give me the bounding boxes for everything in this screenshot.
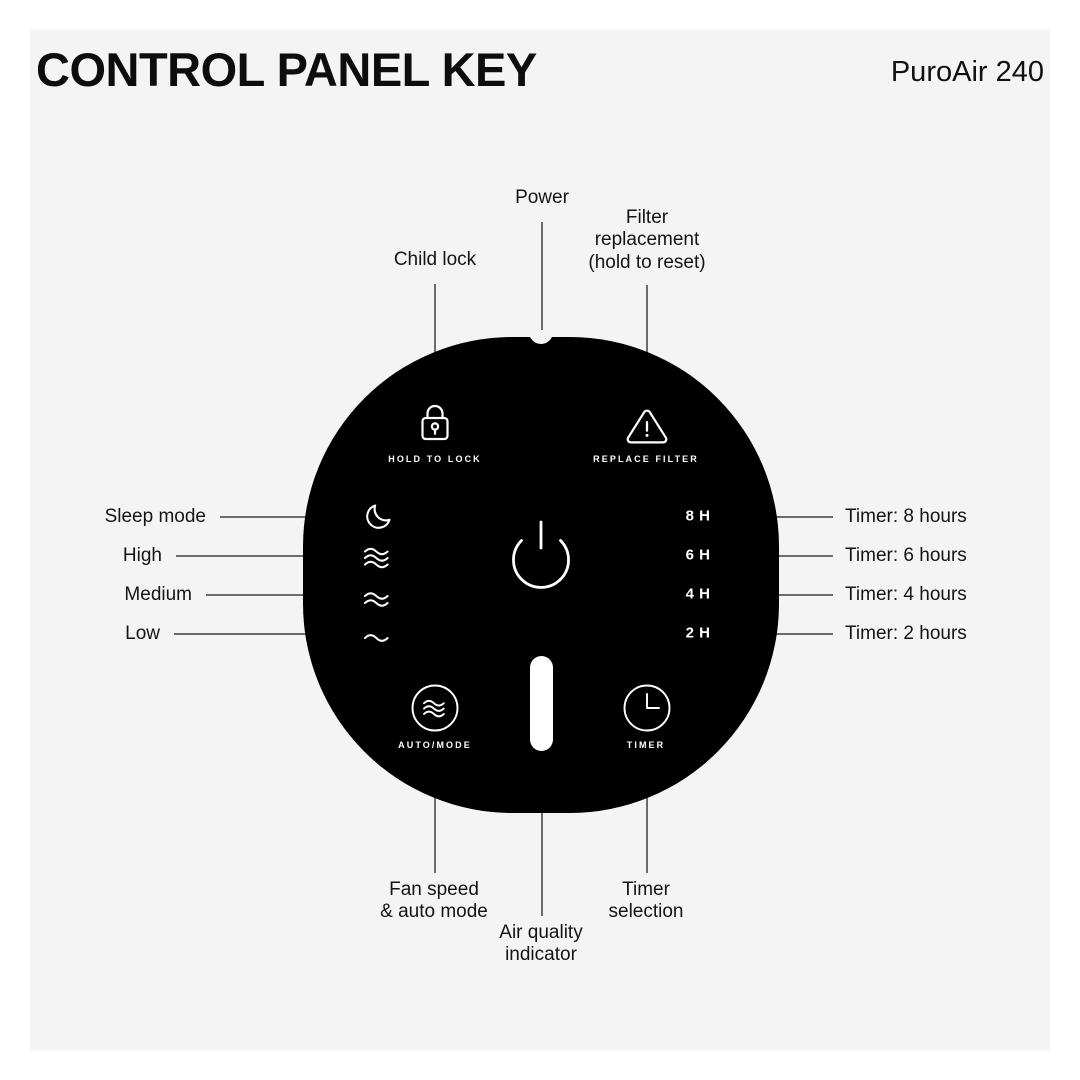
- warning-triangle-icon[interactable]: [625, 408, 669, 451]
- waves-two-icon[interactable]: [362, 590, 396, 615]
- panel-timer-mark-2h[interactable]: 2 H: [686, 625, 711, 642]
- panel-timer-mark-6h[interactable]: 6 H: [686, 547, 711, 564]
- wave-one-icon[interactable]: [362, 629, 396, 650]
- page-title: CONTROL PANEL KEY: [36, 42, 537, 97]
- callout-child-lock: Child lock: [325, 249, 545, 271]
- clock-circle-icon[interactable]: [623, 684, 671, 737]
- callout-timer-8-hours: Timer: 8 hours: [845, 506, 1065, 528]
- padlock-icon[interactable]: [418, 403, 452, 448]
- callout-filter-replacement: Filter replacement (hold to reset): [532, 207, 762, 274]
- callout-air-quality-indicator: Air quality indicator: [431, 922, 651, 967]
- panel-caption-replace-filter: REPLACE FILTER: [593, 454, 699, 464]
- panel-caption-hold-to-lock: HOLD TO LOCK: [388, 454, 482, 464]
- fan-waves-circle-icon[interactable]: [411, 684, 459, 737]
- product-model-name: PuroAir 240: [891, 56, 1044, 89]
- moon-icon[interactable]: [364, 501, 394, 536]
- callout-timer-selection: Timer selection: [546, 879, 746, 924]
- callout-low: Low: [0, 623, 160, 645]
- waves-three-icon[interactable]: [362, 545, 396, 576]
- callout-timer-4-hours: Timer: 4 hours: [845, 584, 1065, 606]
- panel-caption-timer: TIMER: [627, 740, 666, 750]
- control-panel-key-page: CONTROL PANEL KEY PuroAir 240 Child lock…: [0, 0, 1080, 1080]
- callout-medium: Medium: [0, 584, 192, 606]
- callout-timer-6-hours: Timer: 6 hours: [845, 545, 1065, 567]
- callout-fan-speed-auto-mode: Fan speed & auto mode: [309, 879, 559, 924]
- panel-timer-mark-8h[interactable]: 8 H: [686, 508, 711, 525]
- air-quality-pill-icon: [530, 656, 553, 751]
- callout-high: High: [0, 545, 162, 567]
- panel-caption-auto-mode: AUTO/MODE: [398, 740, 472, 750]
- power-icon[interactable]: [498, 517, 584, 618]
- panel-timer-mark-4h[interactable]: 4 H: [686, 586, 711, 603]
- callout-timer-2-hours: Timer: 2 hours: [845, 623, 1065, 645]
- callout-sleep-mode: Sleep mode: [0, 506, 206, 528]
